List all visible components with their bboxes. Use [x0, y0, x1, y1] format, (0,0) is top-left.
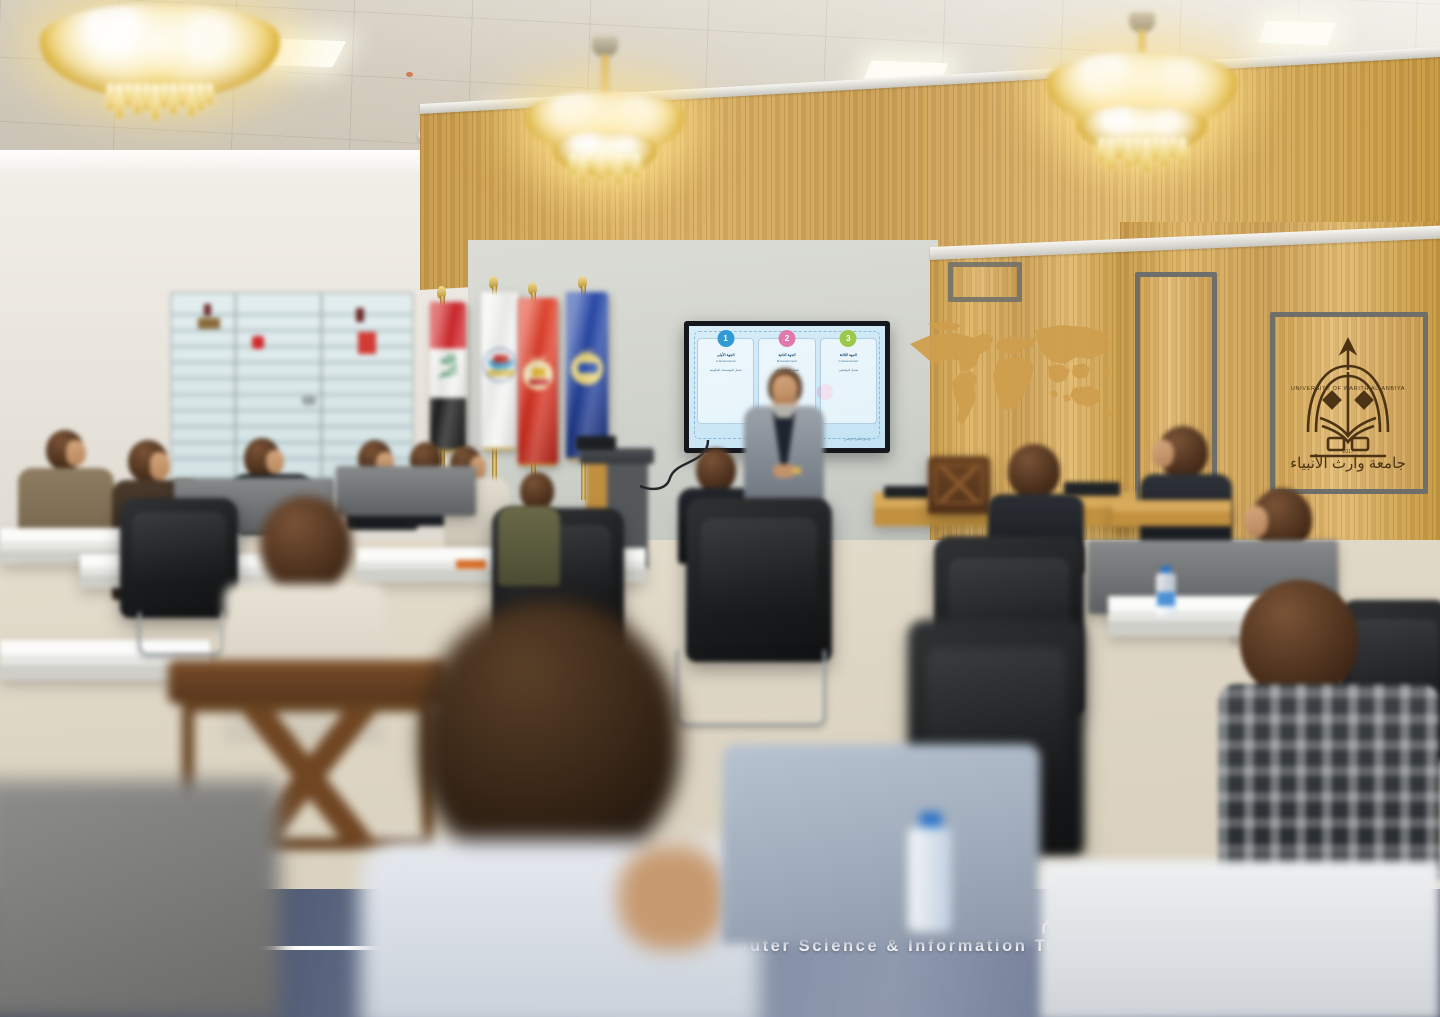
foreground-blur-object — [0, 780, 280, 1017]
student — [1140, 426, 1232, 544]
water-bottle — [1156, 566, 1176, 616]
student — [476, 472, 556, 582]
chandelier — [30, 0, 290, 130]
wall-panel-frame — [948, 262, 1022, 302]
water-bottle — [908, 812, 952, 932]
slide-card-title-en: B-Government — [763, 359, 810, 363]
classroom-photo: UNIVERSITY OF WARITH AL-ANBIYA جامعة وار… — [0, 0, 1440, 1017]
slide-card-number: 3 — [840, 330, 857, 347]
microphone-base-icon — [884, 486, 930, 498]
wall-sign — [198, 318, 220, 329]
slide-card-title-en: A-Government — [702, 359, 749, 363]
foreground-student — [360, 600, 760, 1017]
podium-monitor — [576, 436, 616, 450]
foreground-monitor — [722, 744, 1040, 944]
ceiling-led-panel — [1258, 21, 1335, 45]
slide-card-body: تشمل المواطنين — [825, 368, 872, 372]
slide-card-number: 2 — [778, 330, 795, 347]
exit-sign-icon — [358, 332, 376, 354]
crest-text-ar: جامعة وارث الأنبياء — [1290, 454, 1406, 472]
fire-alarm-icon — [252, 336, 264, 349]
red-flag-cloth: الوزارة — [518, 298, 558, 466]
world-map-decal — [900, 318, 1115, 438]
wooden-chair — [928, 456, 990, 514]
slide-card-title-ar: الجهة الثانية — [763, 353, 810, 358]
wristwatch-icon — [792, 467, 801, 474]
crest-text-en: UNIVERSITY OF WARITH AL-ANBIYA — [1291, 386, 1405, 392]
wall-fixture — [204, 304, 211, 316]
slide-footer-note: برنامج التحول الرقمي — [844, 437, 871, 441]
iraq-flag-cloth: الله أكبر — [430, 302, 466, 452]
slide-card-title-en: C-Government — [825, 359, 872, 363]
door-handle-icon — [302, 396, 316, 405]
slide-card: 3 الجهة الثالثة C-Government تشمل المواط… — [820, 338, 877, 424]
blue-flag-cloth: الكلية — [566, 292, 608, 460]
smoke-detector-icon — [406, 72, 413, 77]
student — [1218, 580, 1440, 880]
foreground-desk — [1040, 860, 1440, 1017]
slide-card-title-ar: الجهة الأولى — [702, 353, 749, 358]
chandelier — [1042, 12, 1242, 192]
chandelier — [520, 36, 690, 216]
university-crest-icon: UNIVERSITY OF WARITH AL-ANBIYA جامعة وار… — [1278, 322, 1418, 482]
office-chair — [120, 498, 238, 618]
student-desk — [1112, 500, 1232, 526]
white-flag-cloth — [481, 292, 519, 450]
slide-card-number: 1 — [717, 330, 734, 347]
chair-base — [138, 612, 224, 656]
plaid-shirt — [1218, 684, 1440, 880]
wall-fixture — [356, 308, 364, 322]
crest-year: 2017 — [1342, 449, 1353, 455]
slide-card-title-ar: الجهة الثالثة — [825, 353, 872, 358]
